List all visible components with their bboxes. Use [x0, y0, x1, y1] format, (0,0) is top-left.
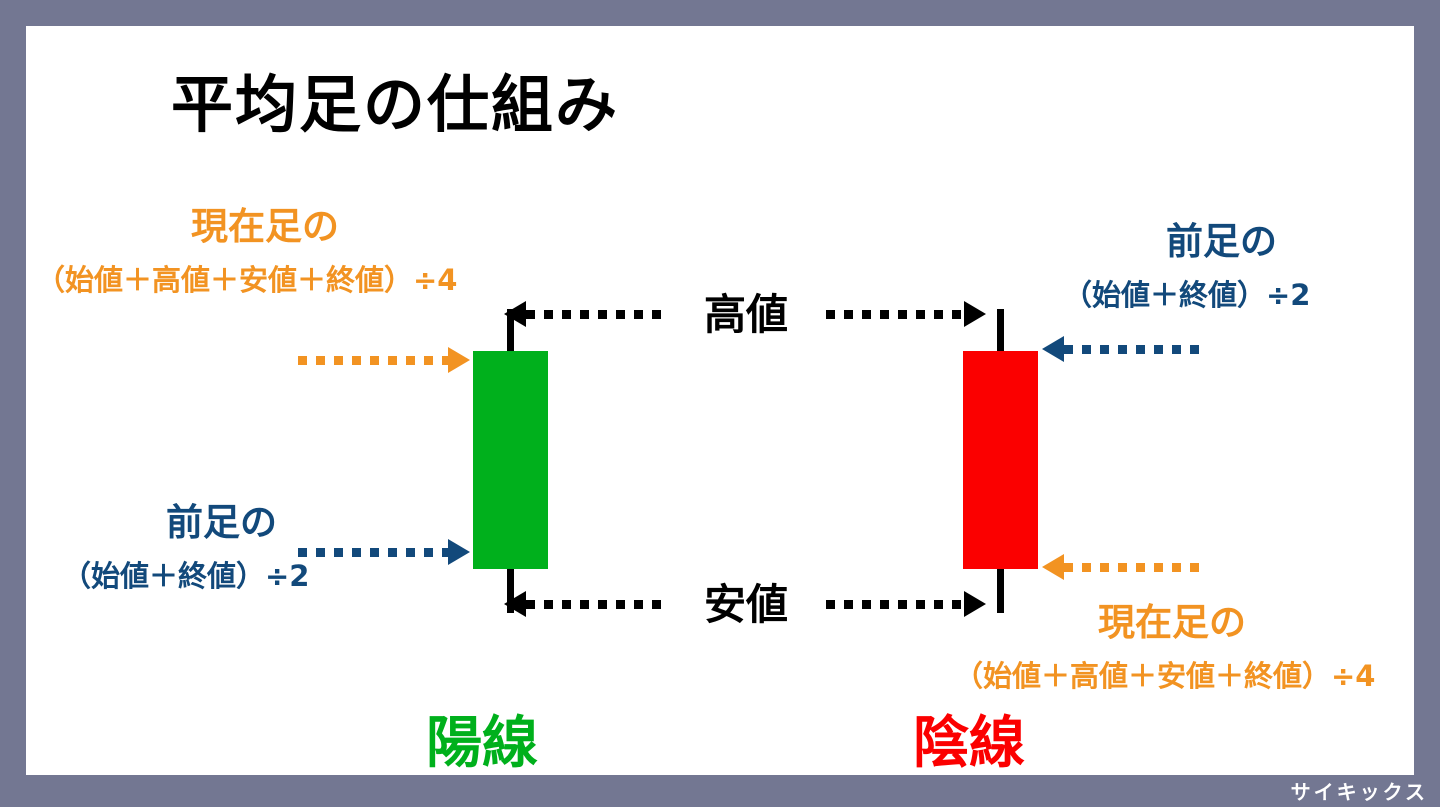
arrow-head-left-icon [1042, 554, 1064, 580]
arrow-shaft [298, 356, 448, 365]
high-span-arrow-right [826, 303, 986, 325]
left-previous-label-line1: 前足の [166, 504, 277, 541]
right-previous-label-line1: 前足の [1166, 223, 1277, 260]
left-previous-formula: （始値＋終値）÷2 [62, 562, 309, 591]
blue-arrow-to-bearish-open [1042, 338, 1202, 360]
orange-arrow-to-bearish-close [1042, 556, 1202, 578]
arrow-shaft [826, 310, 964, 319]
blue-arrow-to-bullish-close [298, 541, 470, 563]
watermark: サイキックス [1291, 776, 1428, 805]
high-price-label: 高値 [704, 294, 788, 336]
low-span-arrow-right [826, 593, 986, 615]
candle-body-bearish [963, 351, 1038, 569]
bullish-candle-name: 陽線 [426, 716, 538, 772]
low-price-label: 安値 [704, 584, 788, 626]
arrow-shaft [298, 548, 448, 557]
arrow-shaft [526, 600, 664, 609]
right-current-label-line1: 現在足の [1098, 604, 1246, 641]
arrow-shaft [526, 310, 664, 319]
bearish-candle-name: 陰線 [913, 716, 1025, 772]
arrow-shaft [826, 600, 964, 609]
arrow-shaft [1064, 345, 1202, 354]
arrow-head-right-icon [448, 539, 470, 565]
arrow-head-left-icon [504, 591, 526, 617]
right-previous-formula: （始値＋終値）÷2 [1063, 281, 1310, 310]
arrow-head-left-icon [1042, 336, 1064, 362]
orange-arrow-to-bullish-open [298, 349, 470, 371]
page-title: 平均足の仕組み [171, 74, 619, 136]
arrow-head-right-icon [964, 301, 986, 327]
high-span-arrow-left [504, 303, 664, 325]
left-current-formula: （始値＋高値＋安値＋終値）÷4 [36, 266, 457, 295]
arrow-shaft [1064, 563, 1202, 572]
arrow-head-right-icon [448, 347, 470, 373]
candle-body-bullish [473, 351, 548, 569]
arrow-head-right-icon [964, 591, 986, 617]
arrow-head-left-icon [504, 301, 526, 327]
low-span-arrow-left [504, 593, 664, 615]
lower-wick-bearish [997, 567, 1004, 613]
slide-canvas: 平均足の仕組み 現在足の （始値＋高値＋安値＋終値）÷4 前足の （始値＋終値）… [26, 26, 1414, 775]
right-current-formula: （始値＋高値＋安値＋終値）÷4 [954, 662, 1375, 691]
left-current-label-line1: 現在足の [191, 208, 339, 245]
